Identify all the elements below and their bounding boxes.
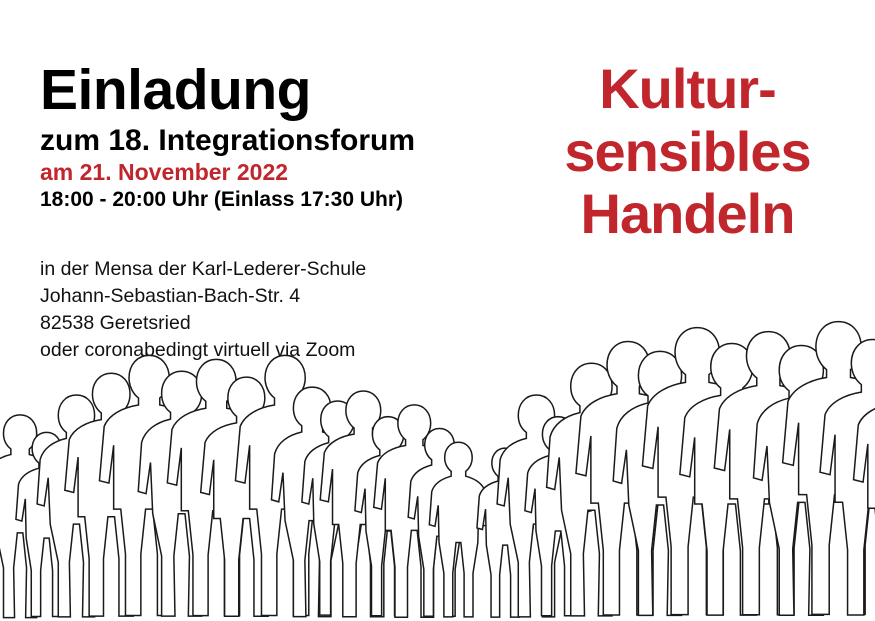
page-title: Einladung xyxy=(40,62,480,119)
flag-crowd-svg xyxy=(0,291,875,621)
event-date: am 21. November 2022 xyxy=(40,160,480,185)
theme-title-line-3: Handeln xyxy=(500,183,875,246)
flag-people-illustration xyxy=(0,291,875,621)
event-subtitle: zum 18. Integrationsforum xyxy=(40,125,480,157)
theme-title: Kultur- sensibles Handeln xyxy=(500,58,875,246)
invitation-text-block: Einladung zum 18. Integrationsforum am 2… xyxy=(40,62,480,211)
venue-line-1: in der Mensa der Karl-Lederer-Schule xyxy=(40,256,366,283)
poster-canvas: Einladung zum 18. Integrationsforum am 2… xyxy=(0,0,875,621)
theme-title-line-1: Kultur- xyxy=(500,58,875,121)
event-time: 18:00 - 20:00 Uhr (Einlass 17:30 Uhr) xyxy=(40,188,480,211)
theme-title-line-2: sensibles xyxy=(500,121,875,184)
